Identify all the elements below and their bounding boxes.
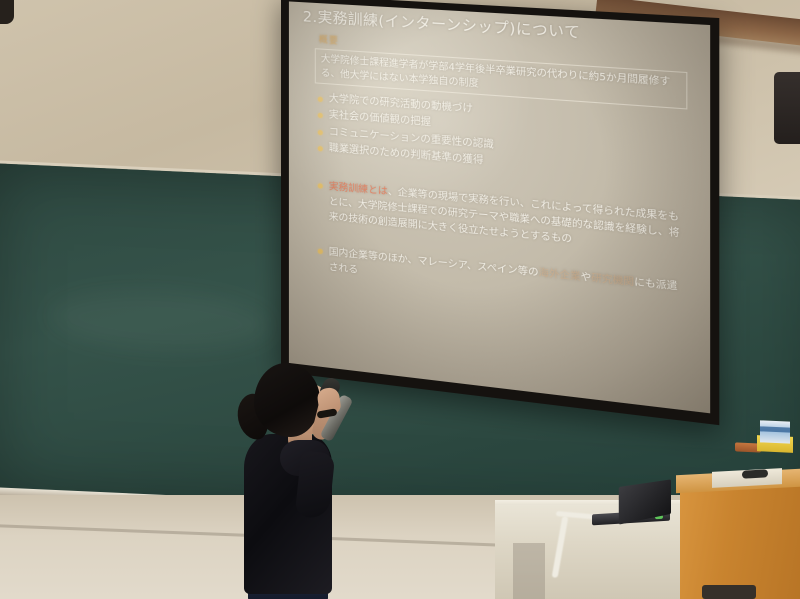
- slide-footer-faint-two: 研究機関: [591, 273, 634, 289]
- chalk-smudge: [50, 286, 270, 356]
- ceiling-corner-shadow: [0, 0, 14, 24]
- screen-surface: 2.実務訓練(インターンシップ)について 概要 大学院修士課程進学者が学部4学年…: [289, 1, 710, 413]
- cabinet-panel: [513, 543, 545, 599]
- slide-footer-faint-one: 海外企業: [538, 267, 580, 283]
- slide-footer-conjunction: や: [581, 272, 592, 285]
- presenter: [222, 360, 382, 599]
- wall-speaker-icon: [774, 72, 800, 144]
- podium-object-icon: [742, 469, 768, 478]
- wooden-podium: [680, 478, 800, 599]
- lecture-hall-photo: 2.実務訓練(インターンシップ)について 概要 大学院修士課程進学者が学部4学年…: [0, 0, 800, 599]
- slide-highlight-term: 実務訓練とは: [329, 181, 388, 197]
- dark-desk-edge: [702, 585, 756, 599]
- presenter-hair: [254, 363, 320, 437]
- presentation-slide: 2.実務訓練(インターンシップ)について 概要 大学院修士課程進学者が学部4学年…: [289, 1, 710, 413]
